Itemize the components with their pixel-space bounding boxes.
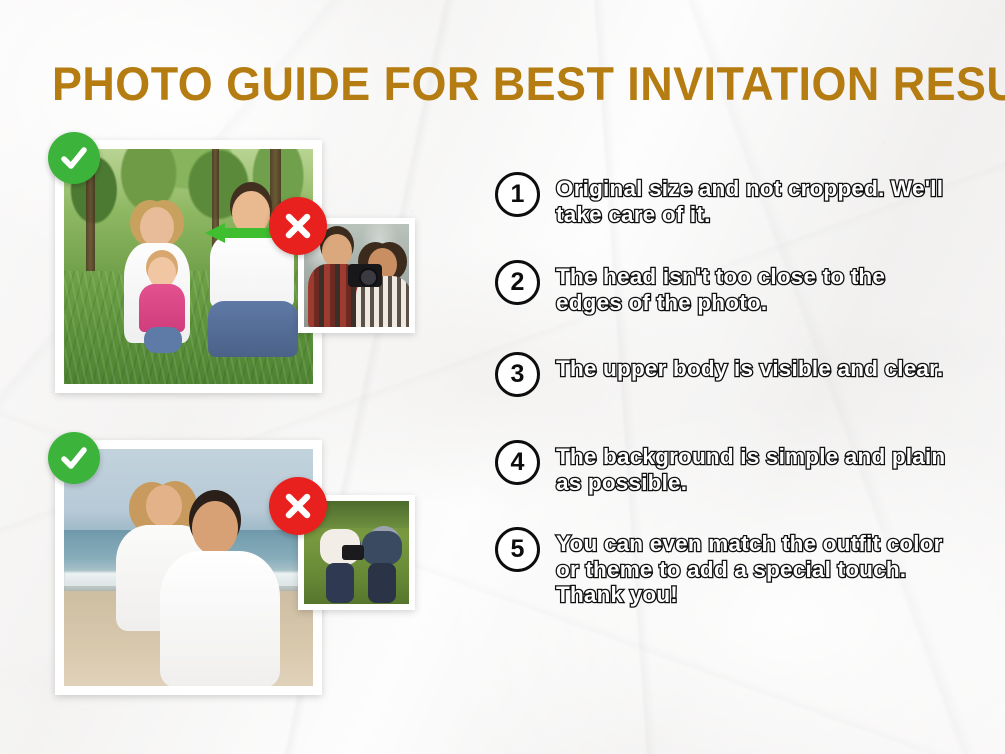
check-icon (59, 443, 89, 473)
good-example-check-badge (48, 432, 100, 484)
guideline-number: 2 (495, 260, 540, 305)
person-man (160, 501, 280, 686)
camera-lens-icon (359, 268, 378, 287)
person-legs (326, 563, 354, 603)
beach-scene (64, 449, 313, 686)
person-child (136, 257, 188, 349)
person-photographer (320, 527, 364, 601)
check-icon (59, 143, 89, 173)
person-companion (360, 525, 404, 601)
person-legs (368, 563, 396, 603)
close-icon (282, 490, 314, 522)
person-head (322, 234, 352, 268)
guideline-number: 5 (495, 527, 540, 572)
guideline-item: 5 You can even match the outfit color or… (495, 527, 956, 608)
guideline-text: The head isn't too close to the edges of… (556, 260, 956, 315)
guideline-number: 3 (495, 352, 540, 397)
close-icon (282, 210, 314, 242)
page-title: PHOTO GUIDE FOR BEST INVITATION RESULT (52, 60, 921, 107)
person-head (140, 207, 174, 247)
good-example-check-badge (48, 132, 100, 184)
person-body (160, 551, 280, 686)
good-photo-image-2 (64, 449, 313, 686)
good-photo-image-1 (64, 149, 313, 384)
person-body (362, 531, 402, 565)
person-legs (208, 301, 298, 357)
person-woman (356, 248, 409, 327)
photo-guide-poster: PHOTO GUIDE FOR BEST INVITATION RESULT (0, 0, 1005, 754)
good-photo-frame-1 (55, 140, 322, 393)
guideline-text: You can even match the outfit color or t… (556, 527, 956, 608)
bad-example-cross-badge (269, 477, 327, 535)
guideline-text: The upper body is visible and clear. (556, 352, 943, 382)
guideline-item: 4 The background is simple and plain as … (495, 440, 956, 495)
person-body (139, 284, 185, 332)
guideline-number: 4 (495, 440, 540, 485)
guideline-item: 2 The head isn't too close to the edges … (495, 260, 956, 315)
person-head (192, 501, 238, 555)
guideline-item: 3 The upper body is visible and clear. (495, 352, 943, 397)
bad-example-cross-badge (269, 197, 327, 255)
park-scene (64, 149, 313, 384)
guideline-item: 1 Original size and not cropped. We'll t… (495, 172, 956, 227)
guideline-text: Original size and not cropped. We'll tak… (556, 172, 956, 227)
good-photo-frame-2 (55, 440, 322, 695)
person-legs (144, 327, 182, 353)
guideline-number: 1 (495, 172, 540, 217)
guideline-text: The background is simple and plain as po… (556, 440, 956, 495)
camera-icon (342, 545, 364, 560)
